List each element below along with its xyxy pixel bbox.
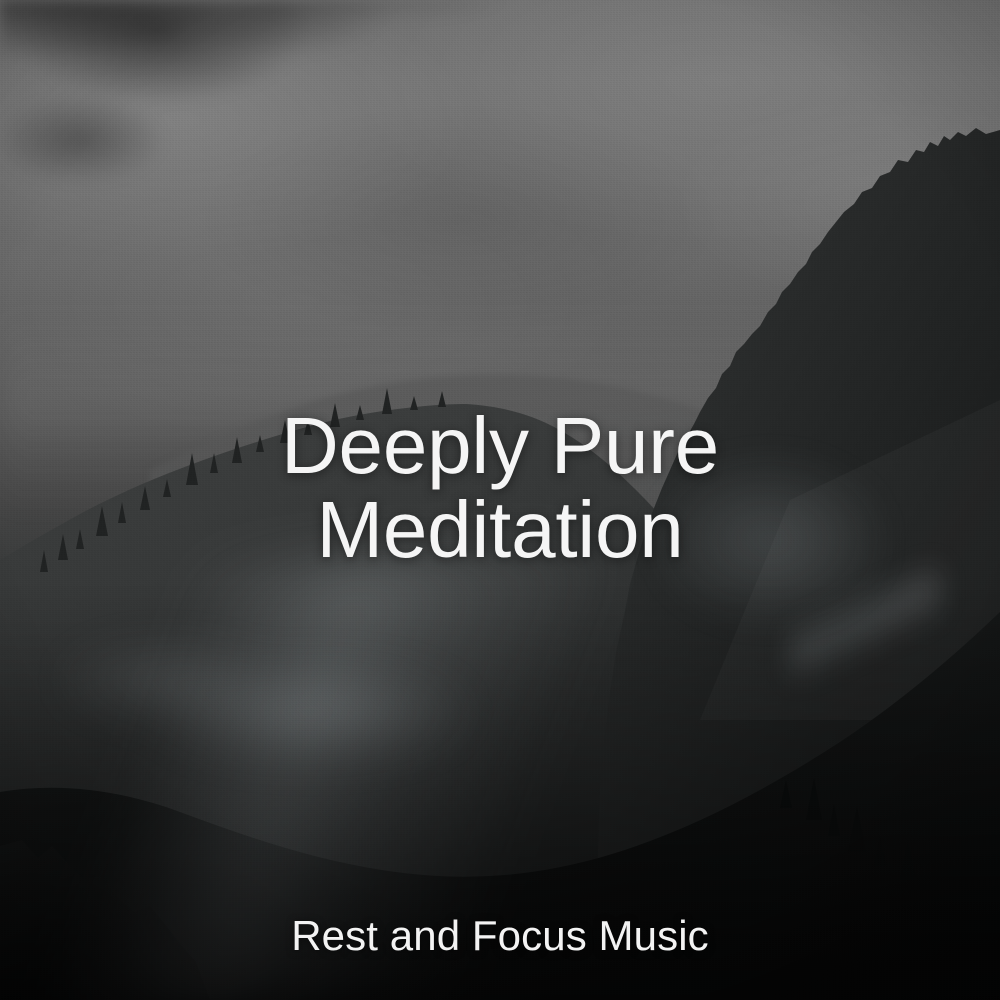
album-title: Deeply Pure Meditation (0, 404, 1000, 572)
album-title-line-1: Deeply Pure (0, 404, 1000, 488)
album-title-line-2: Meditation (0, 488, 1000, 572)
mist-plume-lowerleft (40, 640, 560, 820)
album-cover-artwork: Deeply Pure Meditation Rest and Focus Mu… (0, 0, 1000, 1000)
mist-wisp-right (790, 560, 940, 700)
album-subtitle: Rest and Focus Music (0, 912, 1000, 960)
album-subtitle-text: Rest and Focus Music (0, 912, 1000, 960)
